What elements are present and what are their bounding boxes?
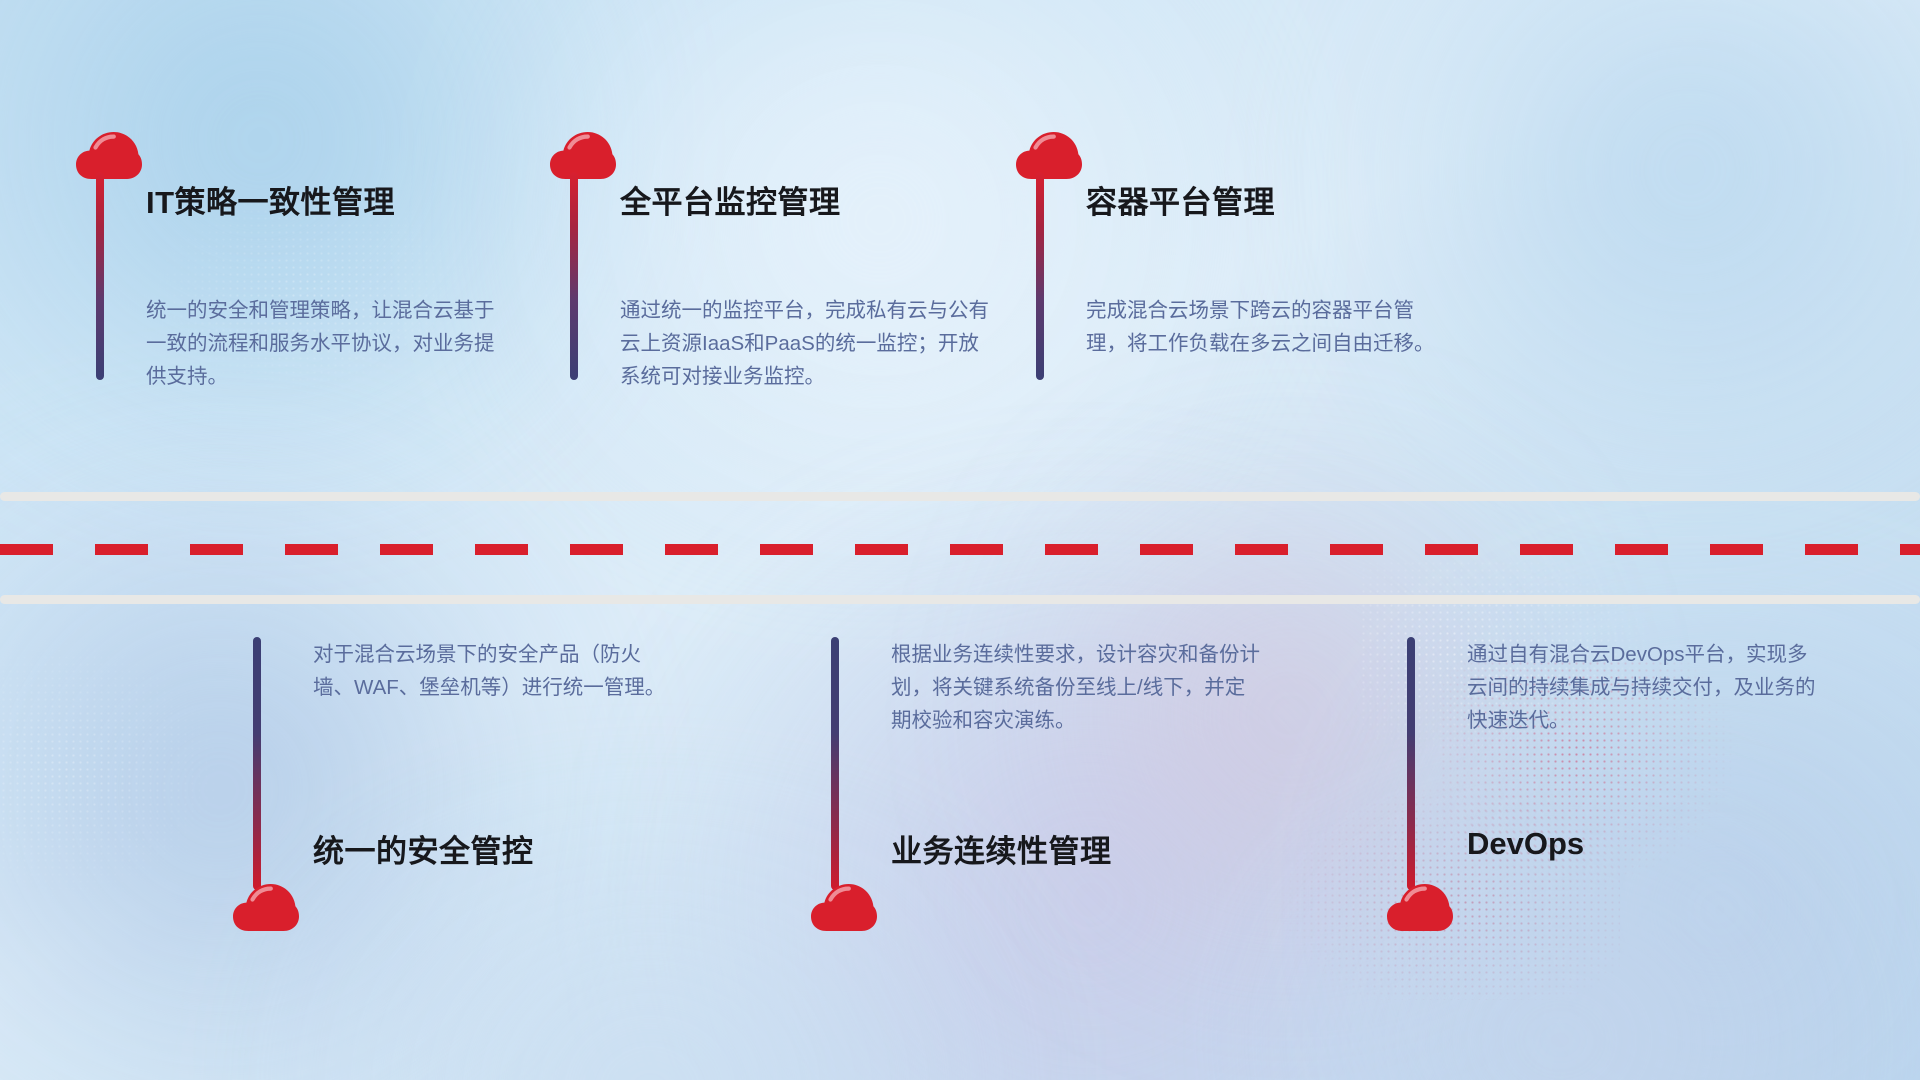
stem-line <box>1036 172 1044 380</box>
item-body: 通过自有混合云DevOps平台，实现多云间的持续集成与持续交付，及业务的快速迭代… <box>1467 638 1827 737</box>
item-title: 容器平台管理 <box>1086 177 1275 222</box>
item-body: 完成混合云场景下跨云的容器平台管理，将工作负载在多云之间自由迁移。 <box>1086 294 1446 360</box>
cloud-icon <box>549 131 617 181</box>
item-title: DevOps <box>1467 826 1584 862</box>
item-body: 对于混合云场景下的安全产品（防火墙、WAF、堡垒机等）进行统一管理。 <box>313 638 673 704</box>
item-title: 业务连续性管理 <box>891 826 1112 871</box>
cloud-icon <box>75 131 143 181</box>
item-title: 全平台监控管理 <box>620 177 841 222</box>
stem-line <box>1407 637 1415 890</box>
cloud-icon <box>1015 131 1083 181</box>
item-body: 根据业务连续性要求，设计容灾和备份计划，将关键系统备份至线上/线下，并定期校验和… <box>891 638 1263 737</box>
cloud-icon <box>232 883 300 933</box>
item-title: IT策略一致性管理 <box>146 177 395 222</box>
item-body: 通过统一的监控平台，完成私有云与公有云上资源IaaS和PaaS的统一监控；开放系… <box>620 294 992 393</box>
cloud-icon <box>1386 883 1454 933</box>
stem-line <box>253 637 261 890</box>
item-body: 统一的安全和管理策略，让混合云基于一致的流程和服务水平协议，对业务提供支持。 <box>146 294 506 393</box>
stem-line <box>96 172 104 380</box>
cloud-icon <box>810 883 878 933</box>
milestone-items: IT策略一致性管理 统一的安全和管理策略，让混合云基于一致的流程和服务水平协议，… <box>0 0 1920 1080</box>
item-title: 统一的安全管控 <box>313 826 534 871</box>
stem-line <box>570 172 578 380</box>
stem-line <box>831 637 839 890</box>
